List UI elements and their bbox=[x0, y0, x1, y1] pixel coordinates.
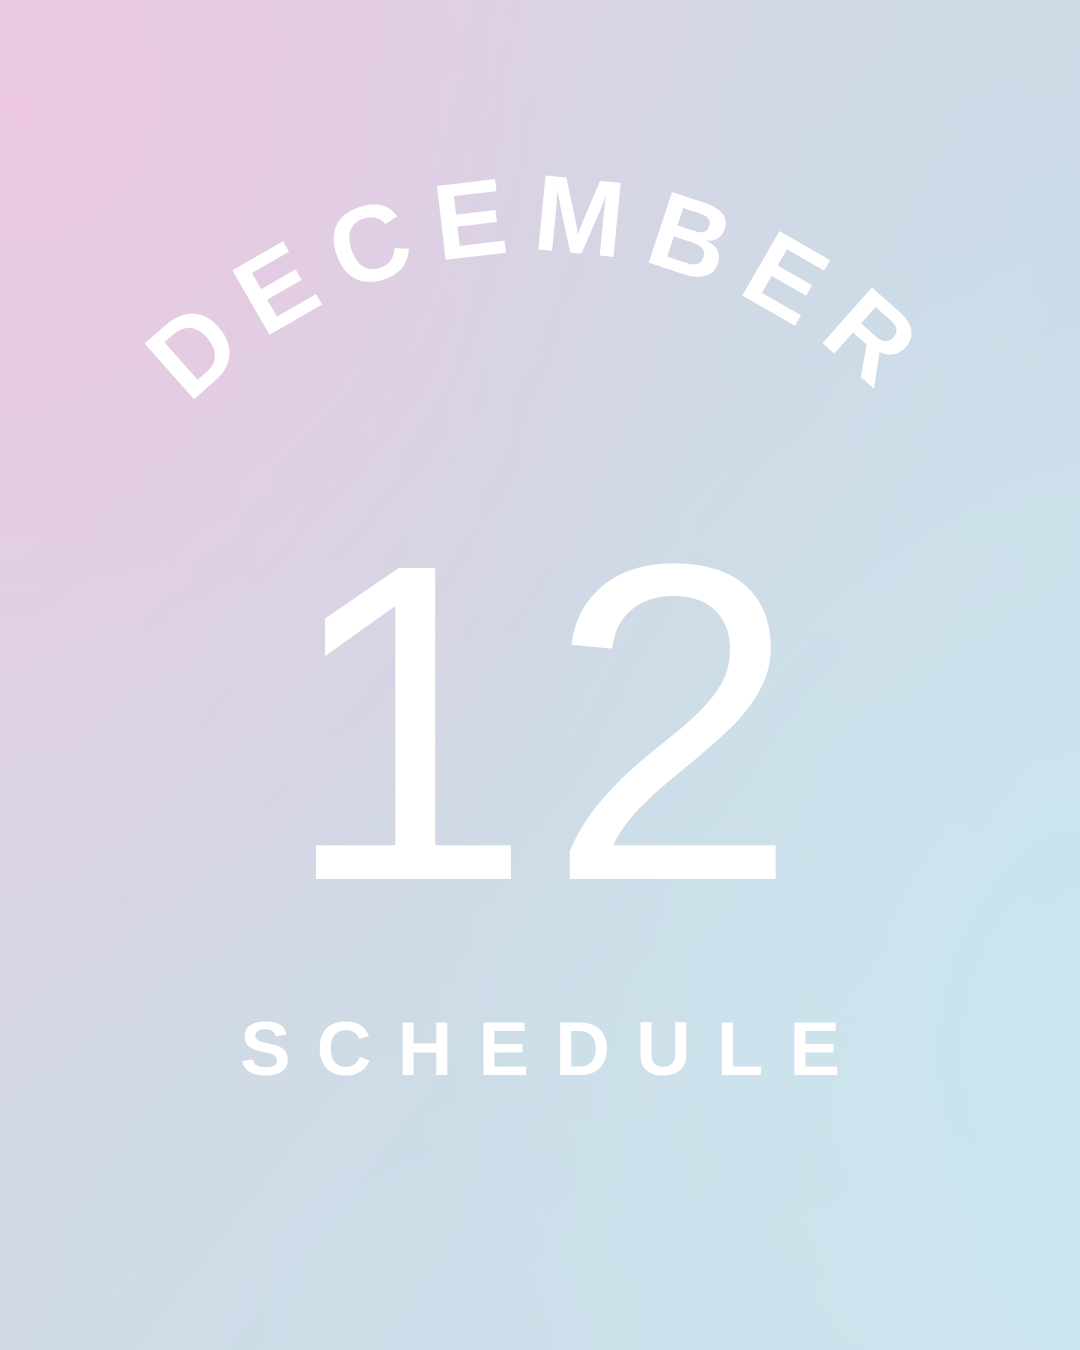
arched-heading-textpath: DECEMBER bbox=[124, 151, 957, 421]
subtitle-label: SCHEDULE bbox=[0, 1012, 1080, 1088]
day-number: 12 bbox=[0, 497, 1080, 949]
poster-canvas: DECEMBER 12 SCHEDULE bbox=[0, 0, 1080, 1350]
arched-heading-text: DECEMBER bbox=[124, 151, 957, 421]
